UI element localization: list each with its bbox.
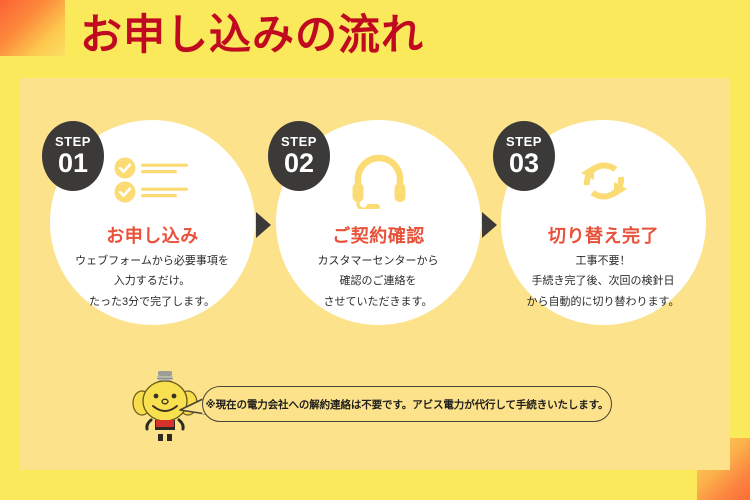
step-badge-number: 02	[284, 149, 314, 177]
step-body-line: ウェブフォームから必要事項を	[42, 251, 262, 271]
steps-container: STEP 01 お申し込み ウェブフォームから必要事項を 入力するだけ。 たった…	[20, 120, 730, 345]
step-badge-03: STEP 03	[493, 121, 555, 191]
step-body-line: カスタマーセンターから	[268, 251, 488, 271]
step-body-line: 確認のご連絡を	[268, 271, 488, 291]
step-body-01: ウェブフォームから必要事項を 入力するだけ。 たった3分で完了します。	[42, 251, 262, 312]
step-badge-number: 03	[509, 149, 539, 177]
step-body-line: たった3分で完了します。	[42, 292, 262, 312]
step-body-line: 入力するだけ。	[42, 271, 262, 291]
step-card-02[interactable]: STEP 02 ご契約確認 カスタマーセンターから 確認のご連絡を させていただ…	[268, 120, 488, 345]
step-title-02: ご契約確認	[276, 222, 481, 248]
step-title-03: 切り替え完了	[501, 222, 706, 248]
corner-gradient-top-left	[0, 0, 65, 56]
step-arrow-2-to-3-icon	[482, 212, 497, 238]
step-body-line: させていただきます。	[268, 292, 488, 312]
step-body-line: から自動的に切り替わります。	[493, 292, 713, 312]
footer-note-text: ※現在の電力会社への解約連絡は不要です。アビス電力が代行して手続きいたします。	[206, 397, 609, 412]
step-badge-number: 01	[58, 149, 88, 177]
step-arrow-1-to-2-icon	[256, 212, 271, 238]
refresh-cycle-icon	[575, 153, 633, 209]
step-badge-01: STEP 01	[42, 121, 104, 191]
footer-note-bubble: ※現在の電力会社への解約連絡は不要です。アビス電力が代行して手続きいたします。	[202, 386, 612, 422]
step-body-line: 手続き完了後、次回の検針日	[493, 271, 713, 291]
step-badge-word: STEP	[55, 135, 91, 148]
step-badge-02: STEP 02	[268, 121, 330, 191]
step-badge-word: STEP	[281, 135, 317, 148]
step-badge-word: STEP	[506, 135, 542, 148]
page-title: お申し込みの流れ	[80, 10, 424, 60]
step-body-line: 工事不要！	[493, 251, 713, 271]
step-body-03: 工事不要！ 手続き完了後、次回の検針日 から自動的に切り替わります。	[493, 251, 713, 312]
checklist-icon	[114, 157, 192, 205]
step-body-02: カスタマーセンターから 確認のご連絡を させていただきます。	[268, 251, 488, 312]
footer-note-row: ※現在の電力会社への解約連絡は不要です。アビス電力が代行して手続きいたします。	[20, 368, 730, 440]
step-card-01[interactable]: STEP 01 お申し込み ウェブフォームから必要事項を 入力するだけ。 たった…	[42, 120, 262, 345]
headset-icon	[348, 153, 410, 209]
step-title-01: お申し込み	[50, 222, 255, 248]
step-card-03[interactable]: STEP 03 切り替え完了 工事不要！ 手続き完了後、次回の検針日 から自動的…	[493, 120, 713, 345]
